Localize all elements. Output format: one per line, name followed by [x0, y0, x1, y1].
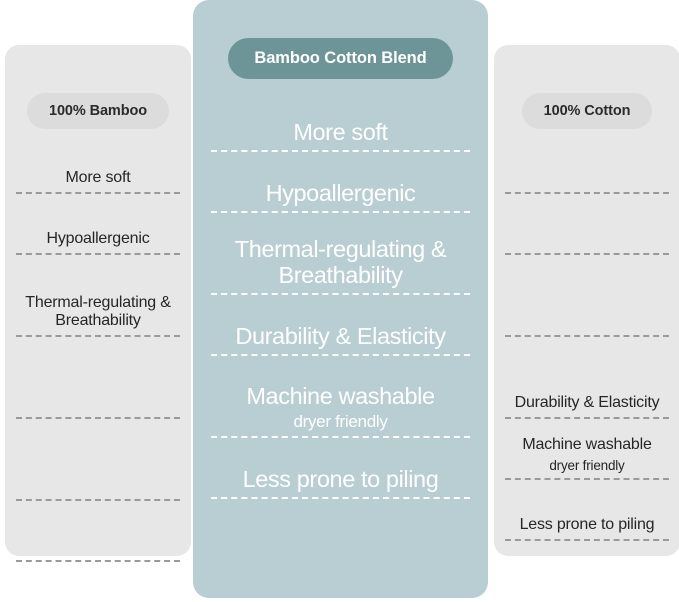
feature-sublabel: dryer friendly [549, 458, 624, 478]
feature-row: Less prone to piling [211, 438, 470, 499]
feature-label: Machine washable [522, 436, 651, 459]
badge-bamboo: 100% Bamboo [27, 93, 169, 129]
row-divider [16, 253, 180, 255]
feature-label: Thermal-regulating & Breathability [211, 236, 470, 293]
feature-row: Hypoallergenic [211, 152, 470, 213]
feature-list-bamboo-cotton-blend: More softHypoallergenicThermal-regulatin… [203, 91, 478, 499]
comparison-chart: 100% Bamboo More softHypoallergenicTherm… [0, 0, 679, 602]
feature-row-empty [16, 501, 180, 562]
row-divider [16, 499, 180, 501]
badge-wrapper-left: 100% Bamboo [13, 45, 183, 129]
row-divider [211, 293, 470, 295]
feature-label: More soft [66, 169, 131, 192]
feature-row: Machine washabledryer friendly [211, 356, 470, 438]
badge-wrapper-right: 100% Cotton [502, 45, 672, 129]
badge-cotton: 100% Cotton [522, 93, 653, 129]
feature-row-empty [16, 337, 180, 419]
panel-bamboo: 100% Bamboo More softHypoallergenicTherm… [5, 45, 191, 556]
feature-row: Less prone to piling [505, 480, 669, 541]
row-divider [211, 354, 470, 356]
feature-label: Hypoallergenic [46, 230, 149, 253]
feature-label: Less prone to piling [520, 516, 655, 539]
feature-row: Durability & Elasticity [211, 295, 470, 356]
badge-wrapper-center: Bamboo Cotton Blend [203, 0, 478, 79]
feature-row: Machine washabledryer friendly [505, 419, 669, 480]
row-divider [505, 192, 669, 194]
feature-label: Machine washable [246, 383, 434, 414]
panel-cotton: 100% Cotton Durability & ElasticityMachi… [494, 45, 679, 556]
row-divider [16, 417, 180, 419]
feature-row: Durability & Elasticity [505, 337, 669, 419]
row-divider [211, 497, 470, 499]
row-divider [16, 335, 180, 337]
row-divider [211, 150, 470, 152]
badge-bamboo-cotton-blend: Bamboo Cotton Blend [228, 38, 452, 79]
row-divider [505, 335, 669, 337]
feature-row: Hypoallergenic [16, 194, 180, 255]
feature-row: Thermal-regulating & Breathability [16, 255, 180, 337]
row-divider [505, 253, 669, 255]
row-divider [211, 211, 470, 213]
feature-row-empty [505, 255, 669, 337]
row-divider [505, 417, 669, 419]
feature-list-cotton: Durability & ElasticityMachine washabled… [502, 133, 672, 541]
feature-label: Thermal-regulating & Breathability [16, 294, 180, 335]
feature-label: More soft [293, 119, 387, 150]
row-divider [211, 436, 470, 438]
feature-label: Less prone to piling [243, 466, 439, 497]
feature-row: More soft [16, 133, 180, 194]
row-divider [505, 539, 669, 541]
row-divider [16, 560, 180, 562]
feature-list-bamboo: More softHypoallergenicThermal-regulatin… [13, 133, 183, 562]
feature-row-empty [16, 419, 180, 501]
feature-row-empty [505, 133, 669, 194]
feature-label: Hypoallergenic [266, 180, 416, 211]
row-divider [505, 478, 669, 480]
row-divider [16, 192, 180, 194]
feature-row: Thermal-regulating & Breathability [211, 213, 470, 295]
feature-sublabel: dryer friendly [293, 413, 387, 436]
feature-row-empty [505, 194, 669, 255]
feature-label: Durability & Elasticity [235, 323, 445, 354]
feature-row: More soft [211, 91, 470, 152]
panel-bamboo-cotton-blend: Bamboo Cotton Blend More softHypoallerge… [193, 0, 488, 598]
feature-label: Durability & Elasticity [515, 394, 660, 417]
